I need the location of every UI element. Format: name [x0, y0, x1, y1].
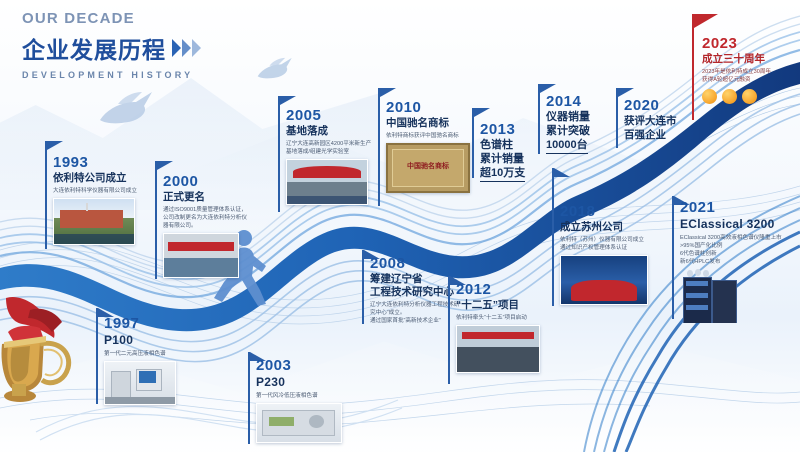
card-year: 2023: [702, 36, 796, 52]
card-desc: 依利特牵头“十二五”项目启动: [456, 314, 546, 322]
flag-pole: [378, 88, 380, 206]
flag-icon: [47, 141, 63, 150]
trophy-icon: [0, 292, 86, 410]
card-year: 2000: [163, 174, 251, 190]
flag-icon: [474, 108, 490, 117]
card-year: 2012: [456, 282, 546, 298]
flag-pole: [472, 108, 474, 178]
card-photo: [560, 255, 648, 305]
card-year: 2021: [680, 200, 790, 216]
medal-dot: [722, 89, 737, 104]
header-en-top: OUR DECADE: [22, 10, 282, 27]
flag-pole: [45, 141, 47, 249]
timeline-card-1993[interactable]: 1993 依利特公司成立 大连依利特科学仪器有限公司成立: [45, 141, 137, 251]
chevron-right-icon: [172, 39, 201, 57]
card-photo: [680, 269, 738, 323]
flag-pole: [692, 14, 694, 120]
dove-icon: [96, 90, 160, 128]
flag-icon: [694, 14, 718, 28]
card-year: 2013: [480, 122, 544, 138]
card-title: 正式更名: [163, 191, 251, 204]
card-photo: 中国驰名商标: [386, 143, 470, 193]
timeline-card-2005[interactable]: 2005 基地落成 辽宁大连高新园区4200平米新生产基地落成/组建光学实验室: [278, 96, 370, 214]
timeline-card-2012[interactable]: 2012 “十二五”项目 依利特牵头“十二五”项目启动: [448, 276, 544, 386]
card-desc: 依利特（苏州）仪器有限公司成立 通过知识产权管理体系认证: [560, 236, 654, 252]
card-year: 1997: [104, 316, 188, 332]
card-year: 2020: [624, 98, 694, 114]
medal-dot: [702, 89, 717, 104]
flag-icon: [618, 88, 634, 97]
card-desc: 依利特商标获评中国驰名商标: [386, 132, 472, 140]
card-year: 2014: [546, 94, 616, 110]
card-desc: 辽宁大连依利特分析仪器工程技术研究中心”成立。 通过国家首批“高新技术企业”: [370, 301, 460, 325]
timeline-card-2010[interactable]: 2010 中国驰名商标 依利特商标获评中国驰名商标 中国驰名商标: [378, 88, 470, 208]
card-title: 中国驰名商标: [386, 117, 472, 130]
flag-pole: [155, 161, 157, 279]
timeline-card-2003[interactable]: 2003 P230 第一代风冷低压液相色谱: [248, 352, 348, 447]
card-title: EClassical 3200: [680, 217, 790, 232]
flag-pole: [278, 96, 280, 212]
card-desc: 第一代二元高压液相色谱: [104, 350, 188, 358]
timeline-card-2014[interactable]: 2014 仪器销量 累计突破 10000台: [538, 84, 614, 156]
card-line-1: 仪器销量: [546, 110, 616, 124]
card-desc: 大连依利特科学仪器有限公司成立: [53, 187, 137, 195]
card-line-2: 累计突破: [546, 124, 616, 138]
page-header: OUR DECADE 企业发展历程 DEVELOPMENT HISTORY: [22, 10, 282, 80]
card-title: 成立三十周年: [702, 53, 796, 66]
timeline-card-2020[interactable]: 2020 获评大连市 百强企业: [616, 88, 692, 150]
timeline-card-1997[interactable]: 1997 P100 第一代二元高压液相色谱: [96, 308, 188, 408]
card-title: 基地落成: [286, 125, 372, 138]
flag-icon: [554, 168, 570, 177]
card-desc: 通过ISO9001质量管理体系认证，公司改制更名为大连依利特分析仪器有限公司。: [163, 206, 251, 230]
card-line-1: 色谱柱: [480, 138, 544, 152]
card-desc: 辽宁大连高新园区4200平米新生产基地落成/组建光学实验室: [286, 140, 372, 156]
timeline-card-2018[interactable]: 2018 成立苏州公司 依利特（苏州）仪器有限公司成立 通过知识产权管理体系认证: [552, 168, 652, 308]
flag-pole: [448, 276, 450, 384]
card-year: 2005: [286, 108, 372, 124]
card-title: P230: [256, 375, 348, 390]
card-line-1: 获评大连市: [624, 115, 694, 128]
card-line-2: 累计销量: [480, 152, 544, 166]
flag-icon: [540, 84, 556, 93]
timeline-card-2000[interactable]: 2000 正式更名 通过ISO9001质量管理体系认证，公司改制更名为大连依利特…: [155, 161, 250, 281]
header-en-bottom: DEVELOPMENT HISTORY: [22, 70, 282, 80]
card-year: 2010: [386, 100, 472, 116]
timeline-card-2023[interactable]: 2023 成立三十周年 2023年是依利特成立30周年 获得A轮超亿元融资: [692, 14, 796, 122]
flag-icon: [157, 161, 173, 170]
card-year: 2003: [256, 358, 348, 374]
card-title: P100: [104, 333, 188, 348]
flag-pole: [538, 84, 540, 154]
card-photo: [256, 403, 342, 443]
card-year: 2008: [370, 256, 460, 272]
card-line-3: 10000台: [546, 138, 616, 153]
card-photo: [456, 325, 540, 373]
flag-icon: [280, 96, 296, 105]
card-desc: 2023年是依利特成立30周年 获得A轮超亿元融资: [702, 68, 796, 84]
card-photo: [286, 159, 368, 205]
card-photo: [104, 361, 176, 405]
page-title: 企业发展历程: [22, 31, 166, 65]
flag-pole: [248, 352, 250, 444]
card-year: 2018: [560, 204, 654, 220]
medal-dot: [742, 89, 757, 104]
card-line-3: 超10万支: [480, 166, 544, 181]
card-title: “十二五”项目: [456, 299, 546, 312]
flag-pole: [96, 308, 98, 404]
timeline-card-2008[interactable]: 2008 筹建辽宁省 工程技术研究中心 辽宁大连依利特分析仪器工程技术研究中心”…: [362, 250, 458, 326]
flag-pole: [616, 88, 618, 148]
card-title: 成立苏州公司: [560, 221, 654, 234]
flag-icon: [380, 88, 396, 97]
card-title: 依利特公司成立: [53, 172, 137, 185]
card-line-2: 百强企业: [624, 129, 694, 142]
timeline-card-2013[interactable]: 2013 色谱柱 累计销量 超10万支: [472, 108, 542, 180]
dove-icon: [255, 56, 297, 82]
timeline-card-2021[interactable]: 2021 EClassical 3200 EClassical 3200高效液相…: [672, 196, 788, 321]
medal-dots: [702, 89, 796, 104]
card-desc: 第一代风冷低压液相色谱: [256, 392, 348, 400]
card-photo: [163, 233, 239, 278]
flag-pole: [672, 196, 674, 319]
infographic-canvas: OUR DECADE 企业发展历程 DEVELOPMENT HISTORY: [0, 0, 800, 452]
card-year: 1993: [53, 155, 137, 171]
card-photo: [53, 198, 135, 245]
card-desc: EClassical 3200高效液相色谱仪隆重上市 >95%国产化比例 6代色…: [680, 234, 790, 266]
flag-pole: [362, 250, 364, 324]
card-title: 筹建辽宁省 工程技术研究中心: [370, 273, 460, 299]
flag-pole: [552, 168, 554, 306]
